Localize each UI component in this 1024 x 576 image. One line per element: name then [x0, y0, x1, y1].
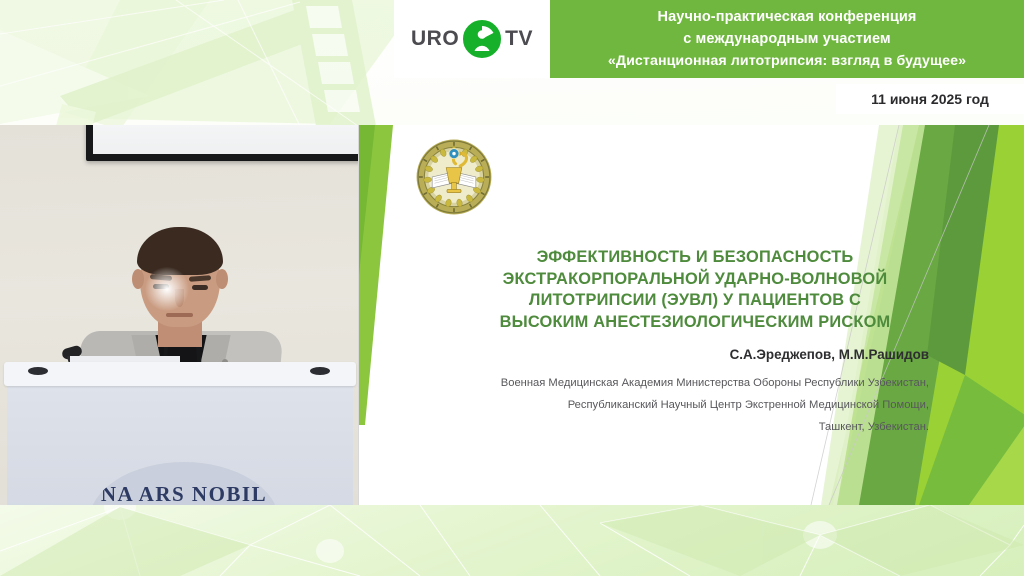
projector-screen-surface — [93, 125, 358, 154]
podium-seal-text: NA ARS NOBIL — [89, 482, 279, 505]
slide-authors: С.А.Эреджепов, М.М.Рашидов — [407, 347, 929, 362]
podium-seal: NA ARS NOBIL — [89, 462, 279, 505]
podium-front: NA ARS NOBIL — [7, 384, 353, 505]
slide-title-line-2: ЭКСТРАКОРПОРАЛЬНОЙ УДАРНО-ВОЛНОВОЙ — [407, 269, 983, 291]
conference-date-box: 11 июня 2025 год — [836, 84, 1024, 114]
speaker-video-panel: NA ARS NOBIL — [0, 125, 358, 505]
conference-date: 11 июня 2025 год — [871, 91, 989, 107]
hair — [137, 227, 223, 275]
ear-left — [132, 269, 144, 289]
ear-right — [216, 269, 228, 289]
broadcast-screen: URO TV Научно-практическая конференция с… — [0, 0, 1024, 576]
banner-line-1: Научно-практическая конференция — [658, 6, 917, 28]
affiliation-line-2: Республиканский Научный Центр Экстренной… — [407, 395, 929, 417]
podium-grommet-left — [28, 367, 48, 375]
uro-tv-circle-icon — [462, 19, 502, 59]
lens-glare — [145, 267, 189, 311]
affiliation-line-1: Военная Медицинская Академия Министерств… — [407, 373, 929, 395]
affiliation-line-3: Ташкент, Узбекистан. — [407, 417, 929, 439]
slide-title-line-4: ВЫСОКИМ АНЕСТЕЗИОЛОГИЧЕСКИМ РИСКОМ — [407, 312, 983, 334]
projector-screen — [86, 125, 358, 161]
logo-text-uro: URO — [411, 27, 459, 51]
uro-tv-logo: URO TV — [394, 0, 550, 78]
banner-line-3: «Дистанционная литотрипсия: взгляд в буд… — [608, 50, 966, 72]
background-network-lines — [0, 505, 1024, 576]
podium-top — [4, 362, 356, 386]
slide-affiliations: Военная Медицинская Академия Министерств… — [407, 373, 929, 439]
podium-grommet-right — [310, 367, 330, 375]
slide-title: ЭФФЕКТИВНОСТЬ И БЕЗОПАСНОСТЬ ЭКСТРАКОРПО… — [407, 247, 983, 334]
banner-line-2: с международным участием — [683, 28, 891, 50]
academy-emblem-icon — [415, 138, 493, 216]
presentation-slide: ЭФФЕКТИВНОСТЬ И БЕЗОПАСНОСТЬ ЭКСТРАКОРПО… — [358, 125, 1024, 505]
slide-title-line-1: ЭФФЕКТИВНОСТЬ И БЕЗОПАСНОСТЬ — [407, 247, 983, 269]
eye-right — [192, 285, 208, 290]
slide-title-line-3: ЛИТОТРИПСИИ (ЭУВЛ) У ПАЦИЕНТОВ С — [407, 290, 983, 312]
logo-text-tv: TV — [505, 27, 533, 51]
podium: NA ARS NOBIL — [4, 362, 356, 505]
conference-title-banner: Научно-практическая конференция с междун… — [550, 0, 1024, 78]
mouth — [166, 313, 193, 317]
